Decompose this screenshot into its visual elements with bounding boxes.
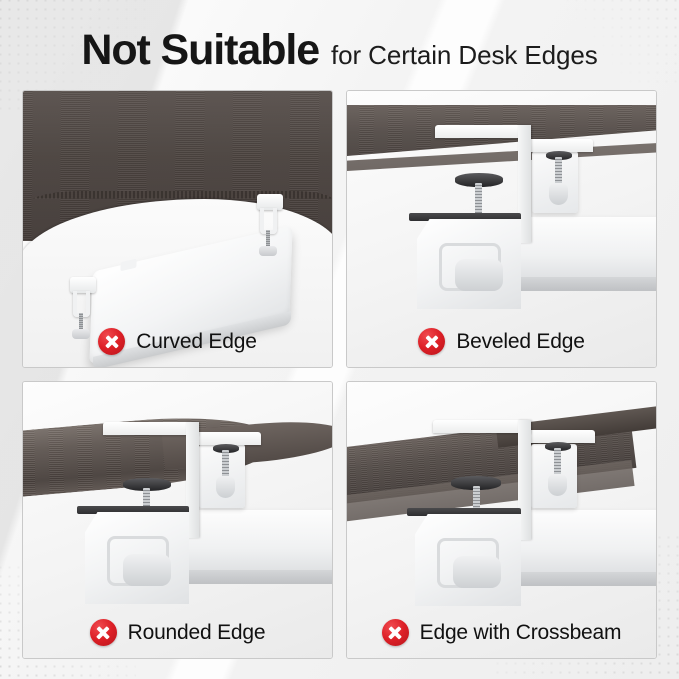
illustration-edge-with-crossbeam: [347, 382, 656, 658]
clamp-rear-screw: [555, 157, 562, 185]
page-title: Not Suitable for Certain Desk Edges: [0, 26, 679, 84]
caption-curved-edge: Curved Edge: [23, 328, 332, 355]
caption-label: Rounded Edge: [128, 621, 266, 645]
panel-curved-edge: Curved Edge: [22, 90, 333, 368]
caption-label: Curved Edge: [136, 330, 256, 354]
illustration-rounded-edge: [23, 382, 332, 658]
clamp-rear-screw: [222, 450, 229, 478]
caption-beveled-edge: Beveled Edge: [347, 328, 656, 355]
title-emphasis: Not Suitable: [81, 26, 319, 75]
panel-grid: Curved Edge: [22, 90, 657, 658]
caption-label: Edge with Crossbeam: [420, 621, 622, 645]
clamp-knob: [259, 246, 277, 256]
red-x-circle-icon: [382, 619, 409, 646]
clamp-rear-screw: [554, 448, 561, 476]
illustration-beveled-edge: [347, 91, 656, 367]
red-x-circle-icon: [90, 619, 117, 646]
clamp-knob: [453, 556, 501, 588]
caption-label: Beveled Edge: [456, 330, 584, 354]
panel-rounded-edge: Rounded Edge: [22, 381, 333, 659]
panel-edge-with-crossbeam: Edge with Crossbeam: [346, 381, 657, 659]
caption-edge-with-crossbeam: Edge with Crossbeam: [347, 619, 656, 646]
clamp-top-jaw: [103, 422, 199, 435]
illustration-curved-edge: [23, 91, 332, 367]
panel-beveled-edge: Beveled Edge: [346, 90, 657, 368]
clamp-top-jaw: [435, 125, 531, 138]
clamp-rear-knob: [549, 183, 568, 205]
clamp-left: [68, 277, 96, 335]
red-x-circle-icon: [98, 328, 125, 355]
caption-rounded-edge: Rounded Edge: [23, 619, 332, 646]
clamp-rear-top-jaw: [527, 430, 595, 443]
red-x-circle-icon: [418, 328, 445, 355]
clamp-rear-knob: [216, 476, 235, 498]
title-subtext: for Certain Desk Edges: [331, 40, 598, 71]
clamp-rear-knob: [548, 474, 567, 496]
clamp-top-jaw: [433, 420, 531, 433]
clamp-knob: [455, 259, 503, 291]
poster-root: Not Suitable for Certain Desk Edges: [0, 0, 679, 679]
clamp-right: [255, 194, 285, 250]
clamp-knob: [123, 554, 171, 586]
